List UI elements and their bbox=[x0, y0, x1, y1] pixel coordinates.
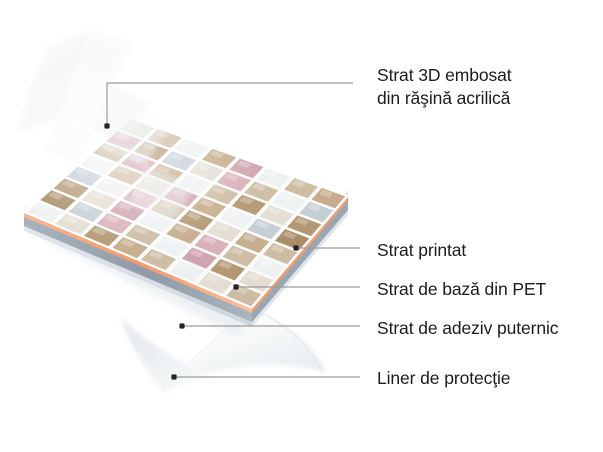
label-printed-layer: Strat printat bbox=[377, 239, 466, 262]
label-protective-liner: Liner de protecţie bbox=[377, 367, 510, 390]
label-line-1: Strat de bază din PET bbox=[377, 279, 546, 299]
leader-dot-printed-layer bbox=[293, 245, 298, 250]
label-strong-adhesive-layer: Strat de adeziv puternic bbox=[377, 317, 558, 340]
label-pet-base-layer: Strat de bază din PET bbox=[377, 278, 546, 301]
label-embossed-3d-layer: Strat 3D embosatdin răşină acrilică bbox=[377, 64, 512, 110]
label-line-1: Liner de protecţie bbox=[377, 368, 510, 388]
label-line-1: Strat 3D embosat bbox=[377, 65, 512, 85]
layer-structure-diagram: Strat 3D embosatdin răşină acrilică Stra… bbox=[0, 0, 603, 452]
label-line-1: Strat printat bbox=[377, 240, 466, 260]
label-line-2: din răşină acrilică bbox=[377, 88, 510, 108]
leader-dot-embossed-3d-layer bbox=[104, 123, 109, 128]
leader-dot-strong-adhesive-layer bbox=[179, 323, 184, 328]
label-line-1: Strat de adeziv puternic bbox=[377, 318, 558, 338]
leader-dot-pet-base-layer bbox=[233, 284, 238, 289]
leader-dot-protective-liner bbox=[171, 374, 176, 379]
diagram-illustration bbox=[0, 0, 603, 452]
